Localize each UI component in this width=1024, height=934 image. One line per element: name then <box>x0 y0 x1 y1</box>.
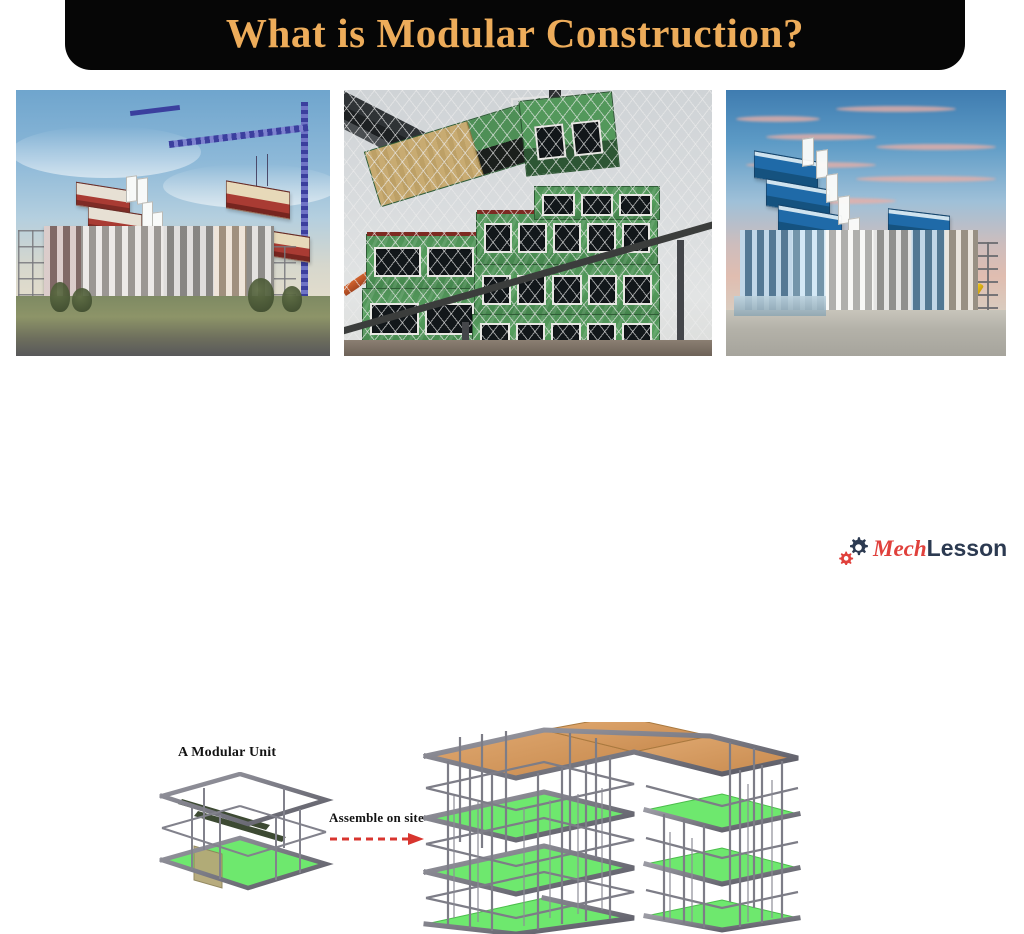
photo-construction-site-green-modules <box>344 90 712 356</box>
floating-panel <box>126 175 137 203</box>
tree <box>282 286 302 312</box>
crane-cable <box>267 154 268 186</box>
photo-modular-render-red-crane <box>16 90 330 356</box>
crane-cable <box>256 156 257 186</box>
tree <box>248 278 274 312</box>
logo-word-mech: Mech <box>873 536 927 561</box>
assemble-on-site-label: Assemble on site <box>329 810 424 826</box>
floating-panel <box>826 173 838 203</box>
scaffold-tower <box>18 230 44 304</box>
floor-slab <box>426 846 634 894</box>
logo-word-lesson: Lesson <box>927 535 1008 561</box>
ground <box>344 340 712 356</box>
gear-icon <box>838 531 872 565</box>
single-modular-unit-diagram <box>148 772 338 900</box>
fence-post <box>677 240 684 356</box>
title-banner: What is Modular Construction? <box>65 0 965 70</box>
tree <box>50 282 70 312</box>
stacked-module <box>474 264 660 320</box>
lifted-module-end <box>518 91 617 174</box>
photo-strip <box>0 90 1024 356</box>
page-title: What is Modular Construction? <box>226 13 804 58</box>
photo-modular-render-blue-crane <box>726 90 1006 356</box>
assembled-modular-building-diagram <box>420 722 820 934</box>
modular-unit-label: A Modular Unit <box>178 745 276 761</box>
stacked-module <box>476 212 658 270</box>
assemble-arrow-icon <box>330 832 426 846</box>
podium-glazing <box>734 296 826 316</box>
tree <box>72 288 92 312</box>
floating-panel <box>137 177 148 205</box>
unit-floor <box>162 838 326 888</box>
stacked-module <box>366 234 482 294</box>
mechlesson-logo[interactable]: MechLesson <box>838 528 1007 568</box>
logo-wordmark: MechLesson <box>873 537 1007 560</box>
unit-partition <box>194 846 222 888</box>
stacked-module <box>534 186 660 220</box>
floating-panel <box>802 137 814 167</box>
crane-mast-icon <box>301 102 308 317</box>
ground <box>726 310 1006 356</box>
